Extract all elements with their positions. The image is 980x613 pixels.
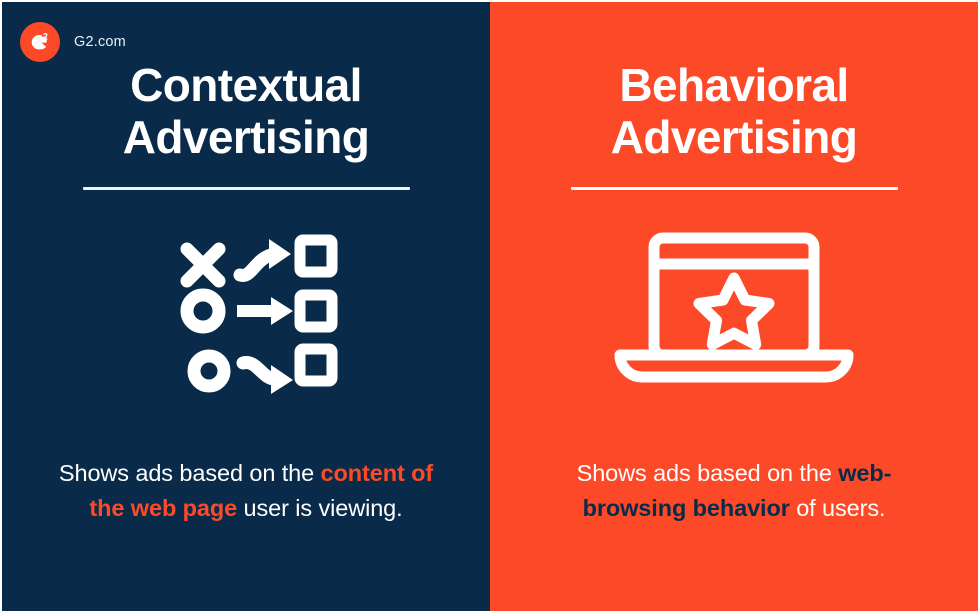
caption-right-tail: of users. xyxy=(790,495,886,521)
svg-text:2: 2 xyxy=(43,31,48,41)
page-title-behavioral: Behavioral Advertising xyxy=(490,60,978,163)
page-title-contextual: Contextual Advertising xyxy=(2,60,490,163)
title-line-1: Behavioral xyxy=(520,60,948,112)
icon-area-right xyxy=(490,190,978,432)
caption-left-lead: Shows ads based on the xyxy=(59,460,321,486)
caption-left-tail: user is viewing. xyxy=(237,495,402,521)
title-line-2: Advertising xyxy=(32,112,460,164)
icon-area-left xyxy=(2,190,490,432)
brand-name: G2.com xyxy=(74,34,126,50)
panel-behavioral-advertising: Behavioral Advertising xyxy=(490,2,978,611)
title-line-1: Contextual xyxy=(32,60,460,112)
title-block-right: Behavioral Advertising xyxy=(490,60,978,190)
g2-logo-icon: 2 xyxy=(20,22,60,62)
title-block-left: Contextual Advertising xyxy=(2,60,490,190)
flow-arrows-to-squares-icon xyxy=(151,229,341,394)
caption-right-lead: Shows ads based on the xyxy=(577,460,839,486)
caption-left: Shows ads based on the content of the we… xyxy=(2,456,490,588)
panel-contextual-advertising: 2 G2.com Contextual Advertising xyxy=(2,2,490,611)
brand-lockup: 2 G2.com xyxy=(20,22,126,62)
title-line-2: Advertising xyxy=(520,112,948,164)
laptop-star-icon xyxy=(610,231,858,391)
caption-right: Shows ads based on the web-browsing beha… xyxy=(490,456,978,588)
comparison-infographic: 2 G2.com Contextual Advertising xyxy=(0,0,980,613)
